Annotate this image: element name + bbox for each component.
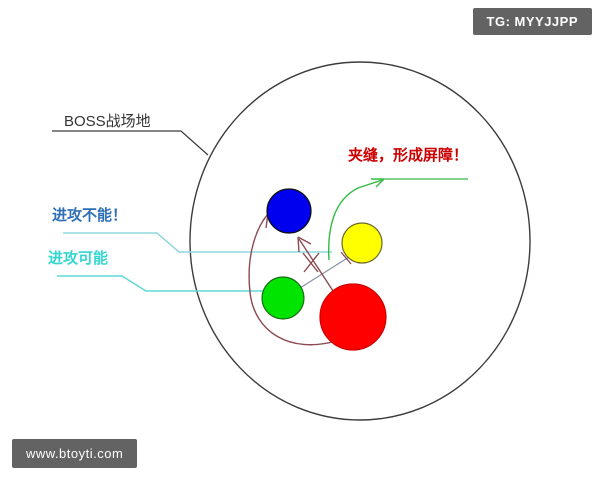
boss-arena-diagram: BOSS战场地 夹缝，形成屏障！ 进攻不能！ 进攻可能 [0,0,600,480]
diagram-canvas: BOSS战场地 夹缝，形成屏障！ 进攻不能！ 进攻可能 TG: MYYJJPP … [0,0,600,480]
yellow-token[interactable] [342,223,382,263]
telegram-handle-badge: TG: MYYJJPP [473,8,592,35]
arena-label: BOSS战场地 [64,113,151,130]
blocked-cross-stroke-b [304,253,319,272]
barrier-label: 夹缝，形成屏障！ [348,146,468,164]
red-token[interactable] [320,284,386,350]
green-token[interactable] [262,277,304,319]
cannot-attack-label: 进攻不能！ [52,206,127,224]
website-watermark-badge: www.btoyti.com [12,439,137,468]
can-attack-label: 进攻可能 [48,249,108,267]
arena-label-leader-line [52,131,208,155]
blue-token[interactable] [267,189,311,233]
blocked-path-line [300,257,349,288]
